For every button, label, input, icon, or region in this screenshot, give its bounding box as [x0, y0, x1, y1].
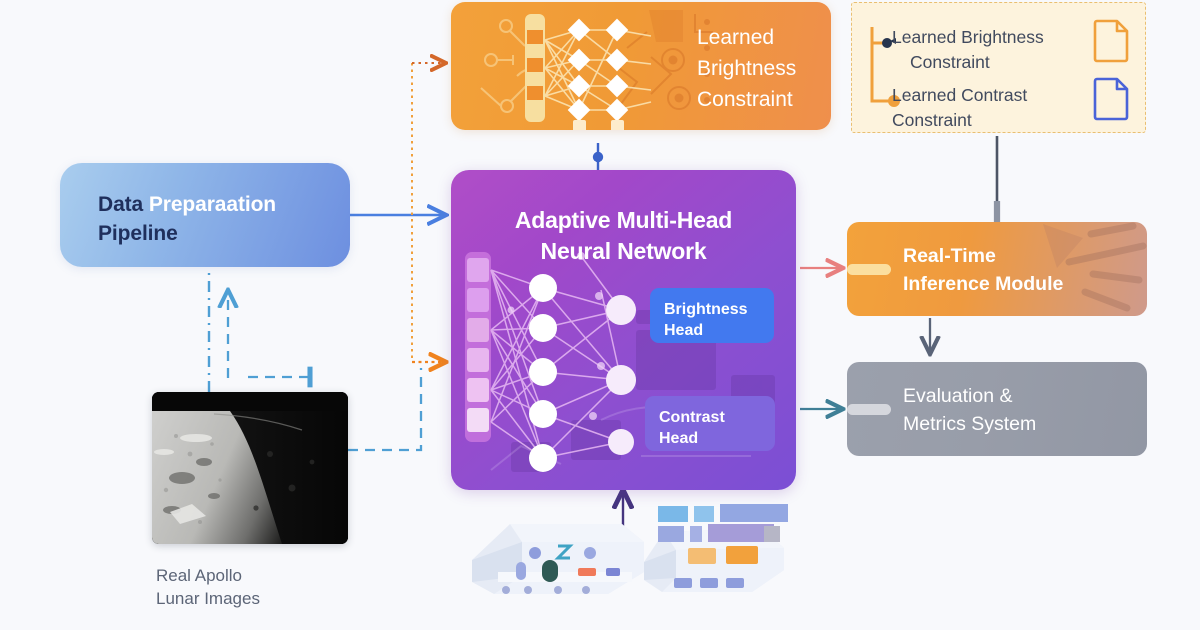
node-learned-brightness-constraint[interactable]: Learned Brightness Constraint	[451, 2, 831, 130]
node-brightness-head[interactable]: Brightness Head	[650, 288, 774, 343]
legend-item-contrast: Learned Contrast Constraint	[892, 83, 1082, 133]
metrics-system-line1: Evaluation &	[903, 385, 1013, 407]
diagram-canvas: Data PreparaationPipeline	[0, 0, 1200, 630]
lunar-caption-line2: Lunar Images	[156, 589, 260, 608]
node-realtime-inference-module[interactable]: Real-Time Inference Module	[847, 222, 1147, 316]
connector-lunar-to-network	[348, 368, 421, 450]
brightness-head-line1: Brightness	[664, 301, 748, 318]
brightness-constraint-line3: Constraint	[697, 88, 793, 111]
connector-dot	[593, 152, 603, 162]
legend-item-brightness-line2: Constraint	[892, 52, 990, 72]
brightness-constraint-line2: Brightness	[697, 57, 796, 80]
inference-module-line1: Real-Time	[903, 245, 996, 267]
node-contrast-head[interactable]: Contrast Head	[645, 396, 775, 451]
neural-network-title: Adaptive Multi-Head Neural Network	[451, 205, 796, 267]
lunar-image-caption: Real Apollo Lunar Images	[156, 564, 386, 610]
legend-box: Learned Brightness Constraint Learned Co…	[851, 2, 1146, 133]
metrics-system-connector-stub	[847, 404, 891, 415]
hardware-artwork	[462, 498, 792, 602]
brightness-constraint-label: Learned Brightness Constraint	[697, 22, 831, 115]
metrics-system-label: Evaluation & Metrics System	[903, 382, 1133, 438]
node-evaluation-metrics-system[interactable]: Evaluation & Metrics System	[847, 362, 1147, 456]
node-data-preparation-pipeline[interactable]: Data PreparaationPipeline	[60, 163, 350, 267]
document-icon-blue	[1093, 75, 1131, 121]
document-icon-orange	[1093, 17, 1131, 63]
neural-network-title-line2: Neural Network	[541, 238, 707, 264]
lunar-caption-line1: Real Apollo	[156, 566, 242, 585]
brightness-constraint-line1: Learned	[697, 26, 774, 49]
lunar-surface-image	[152, 392, 348, 544]
data-pipeline-label-part1: Data	[98, 193, 149, 216]
legend-item-brightness: Learned Brightness Constraint	[892, 25, 1082, 75]
inference-module-label: Real-Time Inference Module	[903, 242, 1123, 298]
contrast-head-line2: Head	[659, 430, 698, 447]
hardware-illustration	[462, 498, 792, 602]
brightness-head-line2: Head	[664, 322, 703, 339]
data-pipeline-label-part2: Preparaation	[149, 193, 276, 216]
inference-module-connector-stub	[847, 264, 891, 275]
contrast-head-line1: Contrast	[659, 409, 725, 426]
data-pipeline-label-part3: Pipeline	[98, 222, 178, 245]
neural-network-title-line1: Adaptive Multi-Head	[515, 207, 732, 233]
legend-item-contrast-line2: Constraint	[892, 110, 972, 130]
lunar-surface-artwork	[152, 392, 348, 544]
legend-item-brightness-line1: Learned Brightness	[892, 27, 1044, 47]
legend-item-contrast-line1: Learned Contrast	[892, 85, 1027, 105]
inference-module-line2: Inference Module	[903, 273, 1063, 295]
data-pipeline-label: Data PreparaationPipeline	[98, 190, 336, 248]
metrics-system-line2: Metrics System	[903, 413, 1036, 435]
